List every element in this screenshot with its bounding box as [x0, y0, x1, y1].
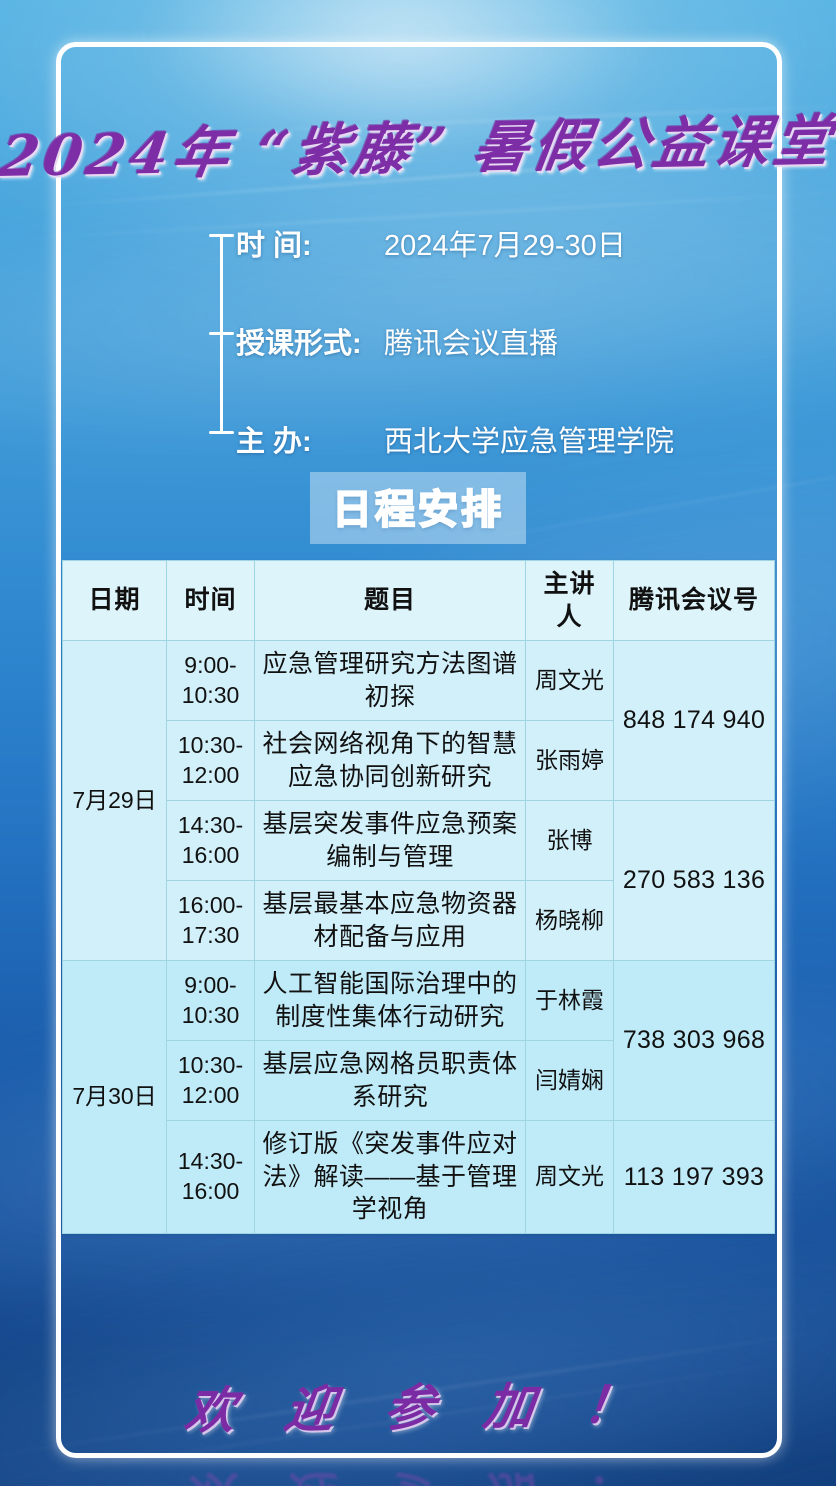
info-row-format: 授课形式: 腾讯会议直播 — [236, 320, 558, 362]
cell-date-0729: 7月29日 — [63, 641, 167, 961]
page-title: 2024年 “紫藤” 暑假公益课堂 — [0, 96, 836, 193]
ruler-tick-bottom — [209, 431, 234, 434]
ruler-tick-top — [209, 234, 234, 237]
column-header-meeting: 腾讯会议号 — [614, 561, 775, 641]
cell-date-0730: 7月30日 — [63, 961, 167, 1234]
cell-time: 14:30-16:00 — [167, 801, 255, 881]
cell-time: 9:00-10:30 — [167, 641, 255, 721]
table-row: 7月29日 9:00-10:30 应急管理研究方法图谱初探 周文光 848 17… — [63, 641, 775, 721]
cell-time: 16:00-17:30 — [167, 881, 255, 961]
welcome-container: 欢 迎 参 加 ！ — [0, 1368, 836, 1440]
cell-topic: 基层应急网格员职责体系研究 — [255, 1041, 526, 1121]
table-header-row: 日期 时间 题目 主讲人 腾讯会议号 — [63, 561, 775, 641]
cell-topic: 社会网络视角下的智慧应急协同创新研究 — [255, 721, 526, 801]
table-row: 7月30日 9:00-10:30 人工智能国际治理中的制度性集体行动研究 于林霞… — [63, 961, 775, 1041]
cell-meeting-id: 848 174 940 — [614, 641, 775, 801]
info-label-date: 时 间: — [236, 222, 384, 264]
cell-speaker: 周文光 — [526, 641, 614, 721]
background-sweep-f — [0, 1210, 836, 1486]
cell-speaker: 闫婧娴 — [526, 1041, 614, 1121]
welcome-reflection-text: 欢 迎 参 加 ！ — [181, 1462, 655, 1486]
cell-meeting-id: 113 197 393 — [614, 1121, 775, 1234]
cell-time: 10:30-12:00 — [167, 1041, 255, 1121]
schedule-banner-title: 日程安排 — [332, 488, 504, 532]
cell-meeting-id: 270 583 136 — [614, 801, 775, 961]
cell-topic: 人工智能国际治理中的制度性集体行动研究 — [255, 961, 526, 1041]
ruler-tick-middle — [209, 332, 234, 335]
cell-speaker: 于林霞 — [526, 961, 614, 1041]
column-header-topic: 题目 — [255, 561, 526, 641]
info-row-organizer: 主 办: 西北大学应急管理学院 — [236, 418, 674, 460]
title-container: 2024年 “紫藤” 暑假公益课堂 — [0, 104, 836, 185]
info-value-organizer: 西北大学应急管理学院 — [384, 418, 674, 460]
schedule-banner-band: 日程安排 — [310, 472, 526, 544]
event-info-block: 时 间: 2024年7月29-30日 授课形式: 腾讯会议直播 主 办: 西北大… — [198, 228, 758, 440]
table-row: 14:30-16:00 基层突发事件应急预案编制与管理 张博 270 583 1… — [63, 801, 775, 881]
cell-speaker: 张博 — [526, 801, 614, 881]
column-header-speaker: 主讲人 — [526, 561, 614, 641]
cell-time: 14:30-16:00 — [167, 1121, 255, 1234]
schedule-banner: 日程安排 — [0, 472, 836, 544]
info-value-date: 2024年7月29-30日 — [384, 222, 626, 264]
schedule-table: 日期 时间 题目 主讲人 腾讯会议号 7月29日 9:00-10:30 应急管理… — [62, 560, 775, 1234]
table-row: 14:30-16:00 修订版《突发事件应对法》解读——基于管理学视角 周文光 … — [63, 1121, 775, 1234]
info-row-date: 时 间: 2024年7月29-30日 — [236, 222, 626, 264]
column-header-time: 时间 — [167, 561, 255, 641]
column-header-date: 日期 — [63, 561, 167, 641]
welcome-reflection: 欢 迎 参 加 ！ — [0, 1462, 836, 1486]
cell-time: 9:00-10:30 — [167, 961, 255, 1041]
cell-time: 10:30-12:00 — [167, 721, 255, 801]
cell-speaker: 杨晓柳 — [526, 881, 614, 961]
cell-topic: 修订版《突发事件应对法》解读——基于管理学视角 — [255, 1121, 526, 1234]
cell-speaker: 周文光 — [526, 1121, 614, 1234]
cell-speaker: 张雨婷 — [526, 721, 614, 801]
info-value-format: 腾讯会议直播 — [384, 320, 558, 362]
cell-topic: 基层突发事件应急预案编制与管理 — [255, 801, 526, 881]
cell-meeting-id: 738 303 968 — [614, 961, 775, 1121]
cell-topic: 应急管理研究方法图谱初探 — [255, 641, 526, 721]
info-label-format: 授课形式: — [236, 320, 384, 362]
cell-topic: 基层最基本应急物资器材配备与应用 — [255, 881, 526, 961]
welcome-text: 欢 迎 参 加 ！ — [181, 1365, 655, 1443]
poster-canvas: 2024年 “紫藤” 暑假公益课堂 时 间: 2024年7月29-30日 授课形… — [0, 0, 836, 1486]
timeline-ruler-icon — [208, 234, 234, 434]
info-label-organizer: 主 办: — [236, 418, 384, 460]
